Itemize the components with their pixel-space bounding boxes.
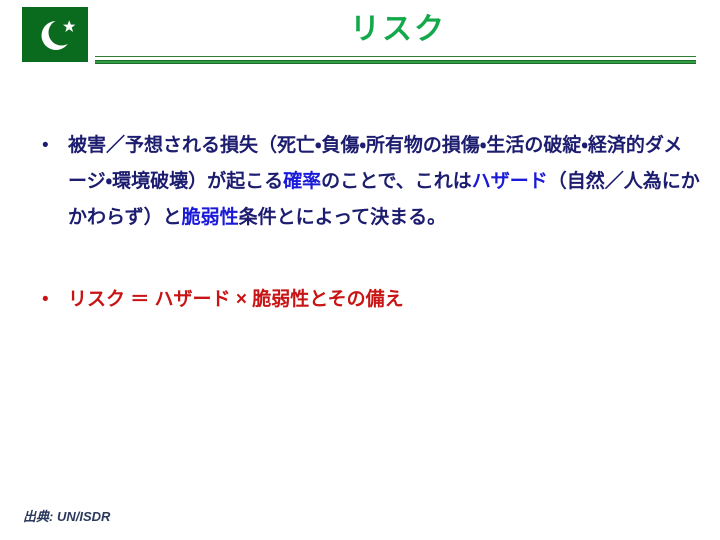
pakistan-flag-icon (22, 7, 88, 62)
definition-highlight-probability: 確率 (283, 171, 321, 192)
bullet-marker: • (42, 128, 49, 164)
divider-line-thick (95, 60, 696, 64)
risk-formula: リスク ＝ ハザード × 脆弱性とその備え (68, 282, 700, 318)
bullet-marker-formula: • (42, 282, 49, 318)
divider-line-thin (95, 56, 696, 57)
bullet-item-definition: • 被害／予想される損失（死亡・負傷・所有物の損傷・生活の破綻・経済的ダメージ・… (0, 128, 720, 236)
definition-highlight-vulnerability: 脆弱性 (182, 207, 239, 228)
definition-segment-2: のことで、これは (321, 171, 472, 192)
source-value: UN/ISDR (57, 509, 110, 524)
body-spacer (0, 236, 720, 282)
title-divider (95, 56, 696, 65)
definition-highlight-hazard: ハザード (472, 171, 548, 192)
definition-segment-4: 条件とによって決まる。 (239, 207, 446, 228)
slide-body: • 被害／予想される損失（死亡・負傷・所有物の損傷・生活の破綻・経済的ダメージ・… (0, 128, 720, 318)
slide: リスク • 被害／予想される損失（死亡・負傷・所有物の損傷・生活の破綻・経済的ダ… (0, 0, 720, 540)
source-note: 出典: UN/ISDR (23, 506, 110, 525)
source-label: 出典 (23, 509, 49, 524)
source-separator: : (49, 509, 57, 524)
page-title: リスク (100, 8, 696, 52)
definition-paragraph: 被害／予想される損失（死亡・負傷・所有物の損傷・生活の破綻・経済的ダメージ・環境… (68, 128, 700, 236)
bullet-item-formula: • リスク ＝ ハザード × 脆弱性とその備え (0, 282, 720, 318)
